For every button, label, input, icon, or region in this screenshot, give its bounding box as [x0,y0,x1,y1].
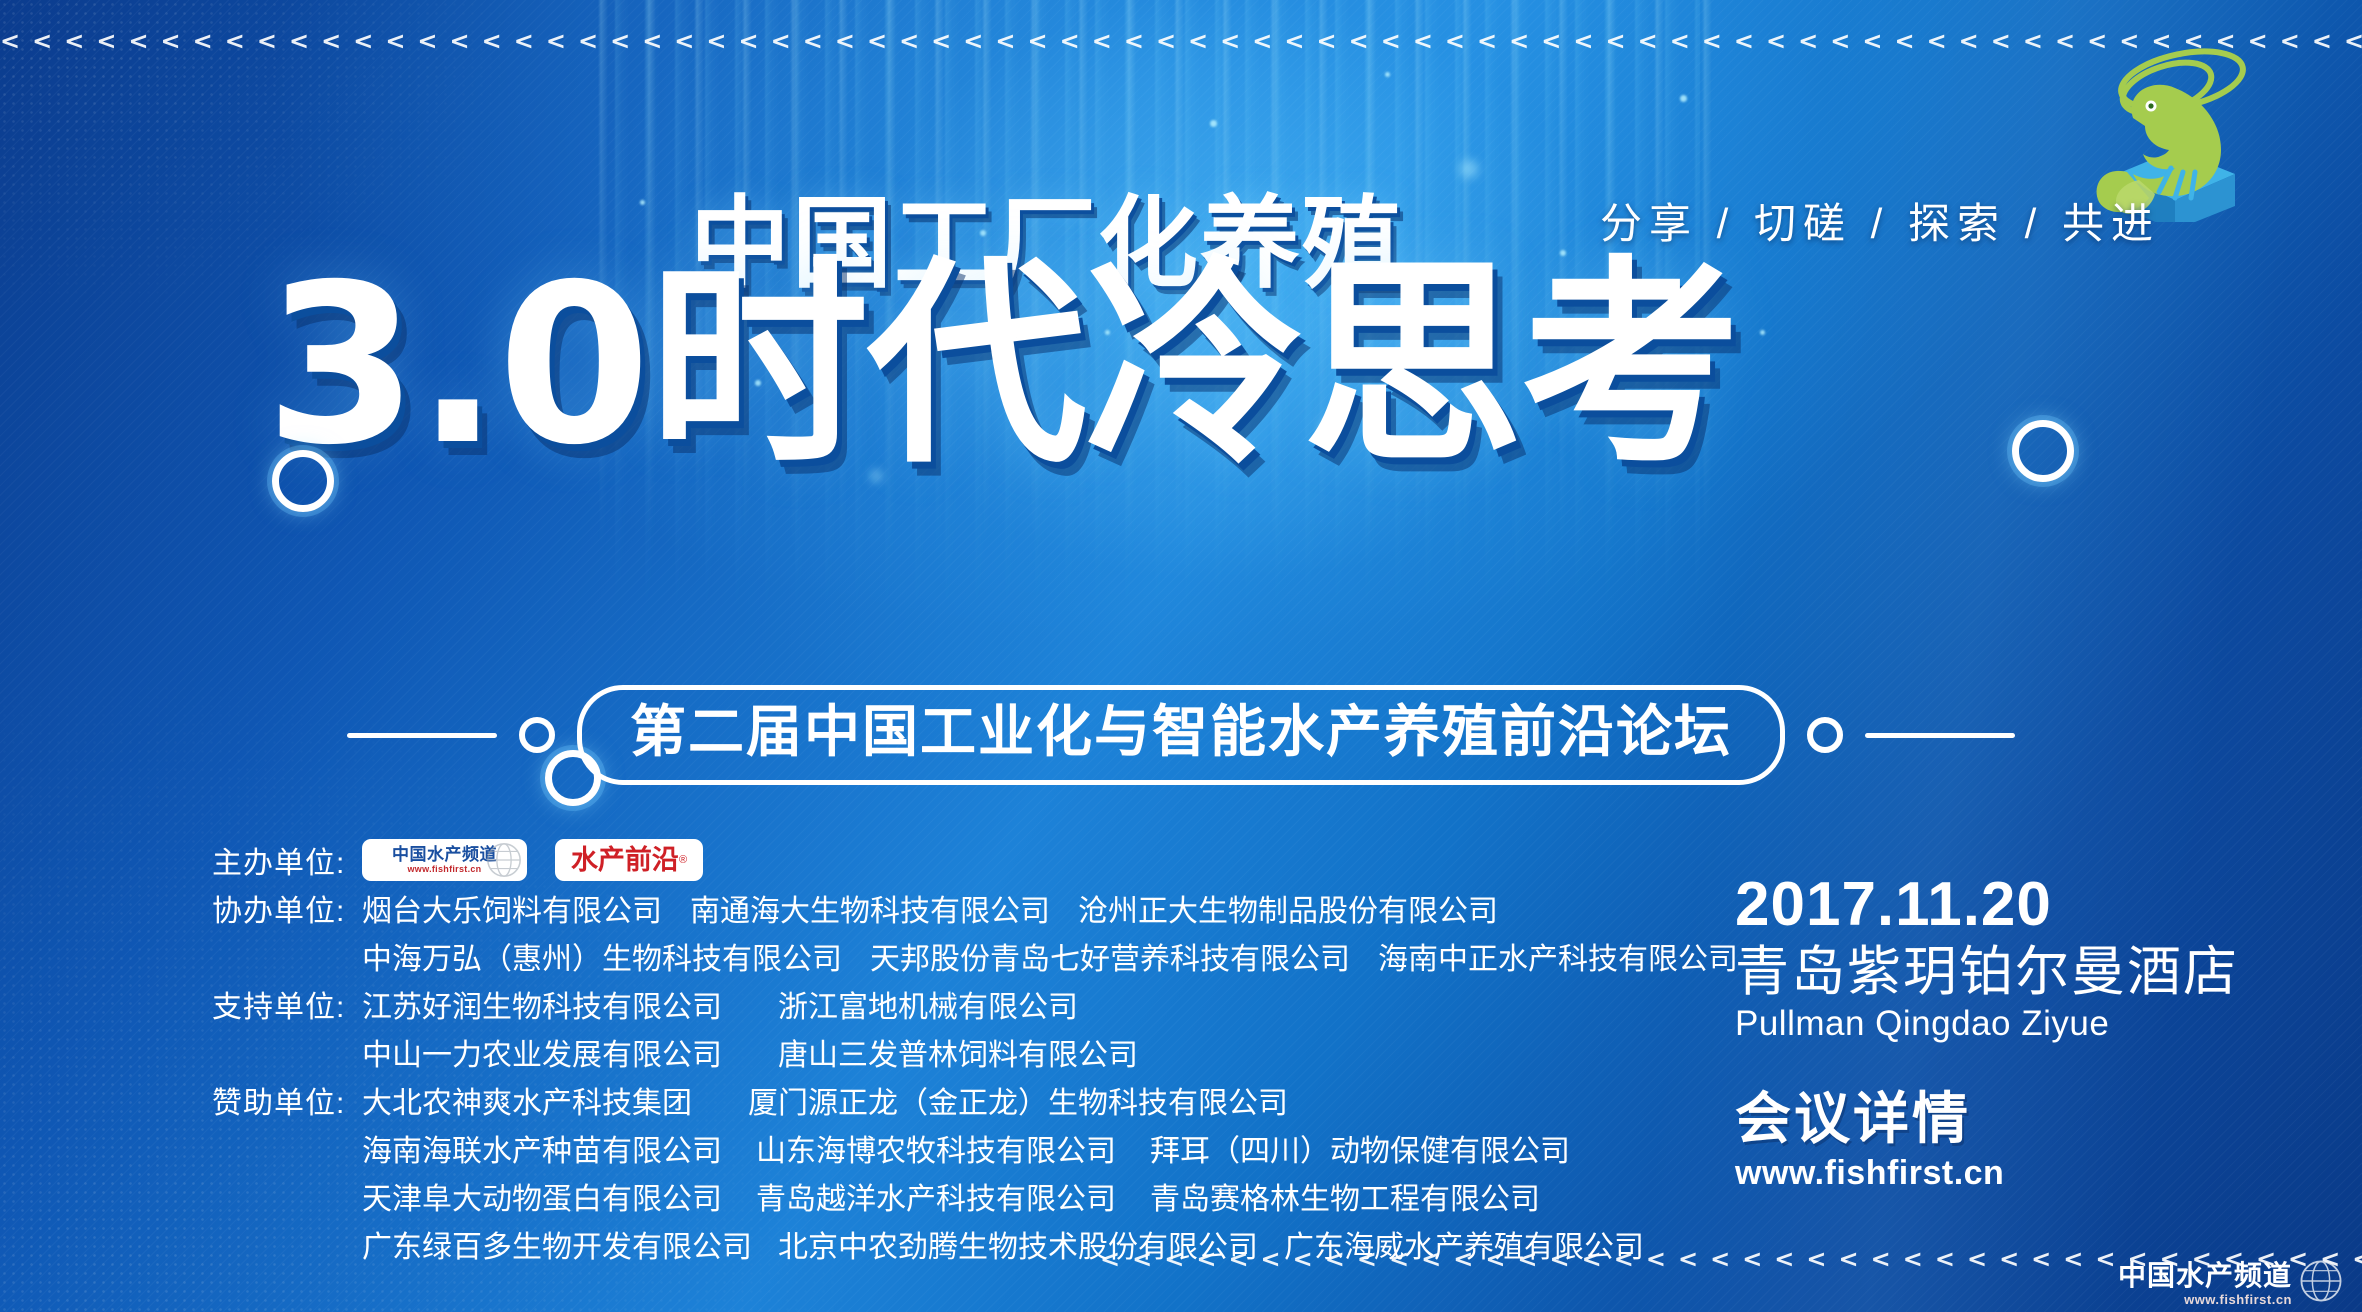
poster-canvas: <<<<<<<<<<<<<<<<<<<<<<<<<<<<<<<<<<<<<<<<… [0,0,2362,1312]
sponsor-name: 浙江富地机械有限公司 [778,982,1078,1026]
sponsor-name: 天邦股份青岛七好营养科技有限公司 [870,934,1350,978]
sponsor-row-coorg-2: 协办单位: 中海万弘（惠州）生物科技有限公司 天邦股份青岛七好营养科技有限公司 … [212,934,1512,978]
watermark-texts: 中国水产频道 www.fishfirst.cn [2118,1262,2292,1306]
headline-block: 中国工厂化养殖 分享 / 切磋 / 探索 / 共进 3.0时代冷思考 [0,150,2362,710]
decorative-ring-right [2012,420,2074,482]
sponsor-name: 中山一力农业发展有限公司 [362,1030,722,1074]
decorative-ring-left [272,450,334,512]
sponsor-name: 青岛赛格林生物工程有限公司 [1150,1174,1540,1218]
subtitle-dot-right [1807,717,1843,753]
sponsor-name: 天津阜大动物蛋白有限公司 [362,1174,722,1218]
subtitle-rule-left [347,733,497,738]
details-label: 会议详情 [1735,1088,2335,1150]
bokeh-particle [1385,72,1390,77]
subtitle-rule-right [1865,733,2015,738]
sponsor-items: 烟台大乐饲料有限公司 南通海大生物科技有限公司 沧州正大生物制品股份有限公司 [362,886,1498,930]
sponsor-row-host: 主办单位: 中国水产频道 www.fishfirst.cn 水产前沿 [212,838,1512,882]
sponsor-name: 南通海大生物科技有限公司 [690,886,1050,930]
sponsor-name: 烟台大乐饲料有限公司 [362,886,662,930]
headline-line-2: 3.0时代冷思考 [265,255,1739,475]
sponsor-name: 北京中农劲腾生物技术股份有限公司 [778,1222,1258,1266]
sponsor-items: 大北农神爽水产科技集团 厦门源正龙（金正龙）生物科技有限公司 [362,1078,1288,1122]
sponsor-name: 厦门源正龙（金正龙）生物科技有限公司 [748,1078,1288,1122]
sponsor-items: 海南海联水产种苗有限公司 山东海博农牧科技有限公司 拜耳（四川）动物保健有限公司 [362,1126,1570,1170]
sponsor-row-patron-4: 赞助单位: 广东绿百多生物开发有限公司 北京中农劲腾生物技术股份有限公司 广东海… [212,1222,1512,1266]
sponsor-items: 中海万弘（惠州）生物科技有限公司 天邦股份青岛七好营养科技有限公司 海南中正水产… [362,934,1738,978]
details-url-link[interactable]: www.fishfirst.cn [1735,1154,2335,1193]
sponsor-list: 主办单位: 中国水产频道 www.fishfirst.cn 水产前沿 [212,838,1512,1270]
sponsor-items: 广东绿百多生物开发有限公司 北京中农劲腾生物技术股份有限公司 广东海威水产养殖有… [362,1222,1644,1266]
subtitle-pill: 第二届中国工业化与智能水产养殖前沿论坛 [577,685,1785,785]
sponsor-items: 天津阜大动物蛋白有限公司 青岛越洋水产科技有限公司 青岛赛格林生物工程有限公司 [362,1174,1540,1218]
sponsor-row-support-2: 支持单位: 中山一力农业发展有限公司 唐山三发普林饲料有限公司 [212,1030,1512,1074]
bokeh-particle [1680,95,1687,102]
event-date: 2017.11.20 [1735,872,2335,937]
sponsor-items: 江苏好润生物科技有限公司 浙江富地机械有限公司 [362,982,1078,1026]
logo-shuichanqianyan[interactable]: 水产前沿 ® [555,839,703,881]
watermark-name: 中国水产频道 [2118,1262,2292,1290]
host-logo-group: 中国水产频道 www.fishfirst.cn 水产前沿 ® [362,839,703,881]
watermark-logo: 中国水产频道 www.fishfirst.cn [2118,1258,2344,1306]
sponsor-name: 海南中正水产科技有限公司 [1378,934,1738,978]
sponsor-name: 海南海联水产种苗有限公司 [362,1126,722,1170]
event-info-panel: 2017.11.20 青岛紫玥铂尔曼酒店 Pullman Qingdao Ziy… [1735,872,2335,1193]
logo-shuichanqianyan-name: 水产前沿 [571,847,679,874]
logo-fishfirst-url: www.fishfirst.cn [408,865,482,874]
sponsor-label-host: 主办单位: [212,838,362,882]
subtitle-dot-left [519,717,555,753]
venue-name-cn: 青岛紫玥铂尔曼酒店 [1735,943,2335,1002]
globe-icon [2298,1258,2344,1304]
sponsor-items: 中山一力农业发展有限公司 唐山三发普林饲料有限公司 [362,1030,1138,1074]
bokeh-particle [1210,120,1217,127]
logo-fishfirst-name: 中国水产频道 [392,846,497,863]
sponsor-name: 青岛越洋水产科技有限公司 [756,1174,1116,1218]
subtitle-row: 第二届中国工业化与智能水产养殖前沿论坛 [0,690,2362,780]
sponsor-name: 大北农神爽水产科技集团 [362,1078,692,1122]
sponsor-row-patron-2: 赞助单位: 海南海联水产种苗有限公司 山东海博农牧科技有限公司 拜耳（四川）动物… [212,1126,1512,1170]
watermark-url: www.fishfirst.cn [2118,1293,2292,1306]
sponsor-label-support: 支持单位: [212,982,362,1026]
sponsor-row-patron-1: 赞助单位: 大北农神爽水产科技集团 厦门源正龙（金正龙）生物科技有限公司 [212,1078,1512,1122]
sponsor-name: 江苏好润生物科技有限公司 [362,982,722,1026]
sponsor-name: 中海万弘（惠州）生物科技有限公司 [362,934,842,978]
registered-mark: ® [679,854,687,866]
logo-fishfirst[interactable]: 中国水产频道 www.fishfirst.cn [362,839,527,881]
sponsor-row-support-1: 支持单位: 江苏好润生物科技有限公司 浙江富地机械有限公司 [212,982,1512,1026]
sponsor-name: 山东海博农牧科技有限公司 [756,1126,1116,1170]
sponsor-row-coorg-1: 协办单位: 烟台大乐饲料有限公司 南通海大生物科技有限公司 沧州正大生物制品股份… [212,886,1512,930]
chevron-border-top: <<<<<<<<<<<<<<<<<<<<<<<<<<<<<<<<<<<<<<<<… [0,28,2362,54]
sponsor-name: 拜耳（四川）动物保健有限公司 [1150,1126,1570,1170]
sponsor-label-patron: 赞助单位: [212,1078,362,1122]
venue-name-en: Pullman Qingdao Ziyue [1735,1004,2335,1044]
chevron-glyphs: <<<<<<<<<<<<<<<<<<<<<<<<<<<<<<<<<<<<<<<<… [0,28,2362,54]
sponsor-name: 唐山三发普林饲料有限公司 [778,1030,1138,1074]
sponsor-label-coorg: 协办单位: [212,886,362,930]
sponsor-row-patron-3: 赞助单位: 天津阜大动物蛋白有限公司 青岛越洋水产科技有限公司 青岛赛格林生物工… [212,1174,1512,1218]
sponsor-name: 沧州正大生物制品股份有限公司 [1078,886,1498,930]
globe-icon [485,841,523,879]
sponsor-name: 广东绿百多生物开发有限公司 [362,1222,752,1266]
sponsor-name: 广东海威水产养殖有限公司 [1284,1222,1644,1266]
